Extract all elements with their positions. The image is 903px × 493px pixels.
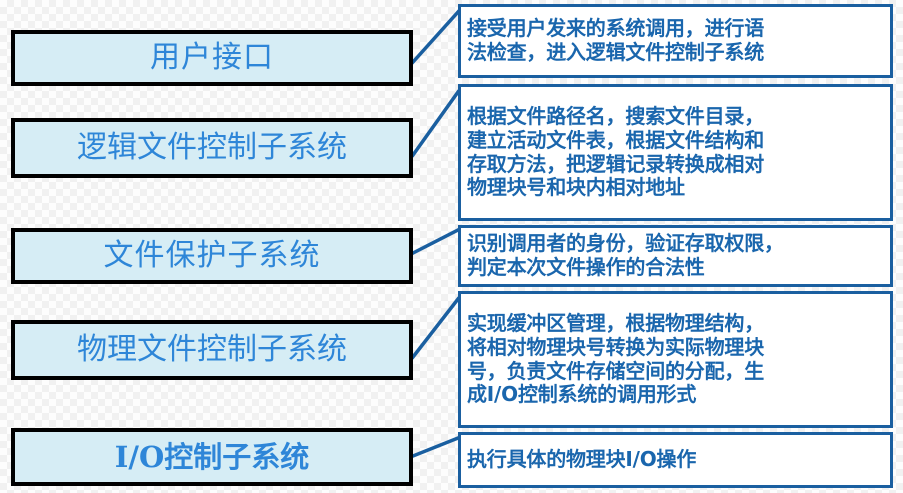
connector-line-file-protection-subsystem <box>413 230 458 253</box>
description-line: 实现缓冲区管理，根据物理结构， <box>467 312 764 336</box>
description-line: 识别调用者的身份，验证存取权限， <box>467 232 784 256</box>
description-line: 成I/O控制系统的调用形式 <box>467 383 764 407</box>
module-label-physical-file-control-subsystem: 物理文件控制子系统 <box>77 335 347 365</box>
description-box-user-interface[interactable]: 接受用户发来的系统调用，进行语法检查，进入逻辑文件控制子系统 <box>458 4 893 78</box>
connector-line-logical-file-control-subsystem <box>413 92 458 155</box>
diagram-canvas: 用户接口逻辑文件控制子系统文件保护子系统物理文件控制子系统I/O控制子系统 接受… <box>0 0 903 493</box>
description-text-io-control-subsystem: 执行具体的物理块I/O操作 <box>467 448 696 472</box>
description-line: 执行具体的物理块I/O操作 <box>467 448 696 472</box>
description-line: 将相对物理块号转换为实际物理块 <box>467 336 764 360</box>
description-text-logical-file-control-subsystem: 根据文件路径名，搜索文件目录，建立活动文件表，根据文件结构和存取方法，把逻辑记录… <box>467 105 764 199</box>
description-text-file-protection-subsystem: 识别调用者的身份，验证存取权限，判定本次文件操作的合法性 <box>467 232 784 279</box>
module-box-file-protection-subsystem[interactable]: 文件保护子系统 <box>11 228 413 284</box>
connector-line-user-interface <box>413 12 458 62</box>
module-label-user-interface: 用户接口 <box>150 43 274 73</box>
description-line: 法检查，进入逻辑文件控制子系统 <box>467 41 764 65</box>
description-line: 号，负责文件存储空间的分配，生 <box>467 360 764 384</box>
description-box-io-control-subsystem[interactable]: 执行具体的物理块I/O操作 <box>458 432 893 488</box>
description-line: 存取方法，把逻辑记录转换成相对 <box>467 153 764 177</box>
description-line: 接受用户发来的系统调用，进行语 <box>467 17 764 41</box>
module-box-logical-file-control-subsystem[interactable]: 逻辑文件控制子系统 <box>11 118 413 178</box>
module-box-io-control-subsystem[interactable]: I/O控制子系统 <box>11 428 413 486</box>
module-label-io-control-subsystem: I/O控制子系统 <box>115 443 309 472</box>
module-box-physical-file-control-subsystem[interactable]: 物理文件控制子系统 <box>11 320 413 380</box>
description-text-physical-file-control-subsystem: 实现缓冲区管理，根据物理结构，将相对物理块号转换为实际物理块号，负责文件存储空间… <box>467 312 764 406</box>
description-line: 根据文件路径名，搜索文件目录， <box>467 105 764 129</box>
description-text-user-interface: 接受用户发来的系统调用，进行语法检查，进入逻辑文件控制子系统 <box>467 17 764 64</box>
description-box-physical-file-control-subsystem[interactable]: 实现缓冲区管理，根据物理结构，将相对物理块号转换为实际物理块号，负责文件存储空间… <box>458 291 893 428</box>
description-box-logical-file-control-subsystem[interactable]: 根据文件路径名，搜索文件目录，建立活动文件表，根据文件结构和存取方法，把逻辑记录… <box>458 84 893 221</box>
module-label-logical-file-control-subsystem: 逻辑文件控制子系统 <box>77 133 347 163</box>
description-line: 建立活动文件表，根据文件结构和 <box>467 129 764 153</box>
description-line: 判定本次文件操作的合法性 <box>467 256 784 280</box>
description-box-file-protection-subsystem[interactable]: 识别调用者的身份，验证存取权限，判定本次文件操作的合法性 <box>458 225 893 287</box>
module-label-file-protection-subsystem: 文件保护子系统 <box>104 241 321 271</box>
description-line: 物理块号和块内相对地址 <box>467 176 764 200</box>
connector-line-physical-file-control-subsystem <box>413 299 458 357</box>
connector-line-io-control-subsystem <box>413 438 458 456</box>
module-box-user-interface[interactable]: 用户接口 <box>11 30 413 86</box>
